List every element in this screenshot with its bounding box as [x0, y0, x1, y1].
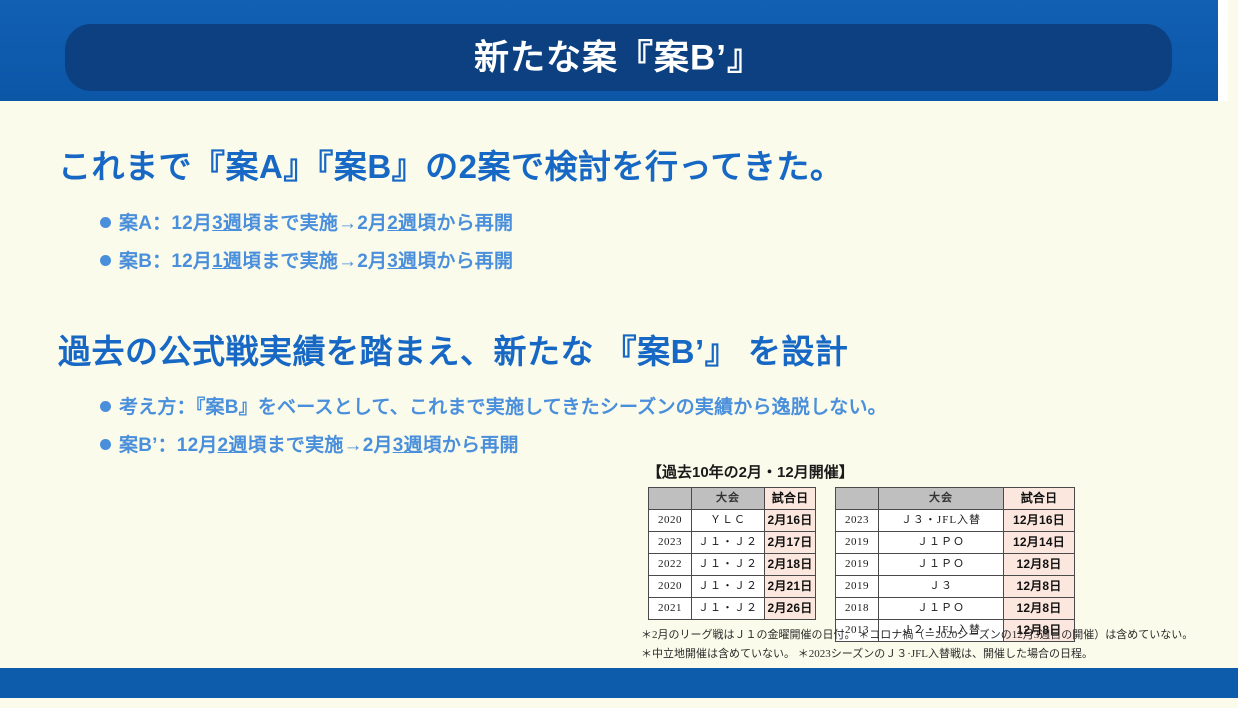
header-banner: 新たな案『案B’』 [0, 0, 1228, 101]
bullet-text-underline-1: 3週 [212, 213, 242, 234]
bullet-text-underline-2: 3週 [387, 251, 417, 272]
cell-year: 2018 [836, 598, 879, 620]
bullet-text-underline-2: 2週 [387, 213, 417, 234]
header-date: 試合日 [1004, 488, 1075, 510]
cell-date: 12月16日 [1004, 510, 1075, 532]
bullet-text-underline-2: 3週 [393, 435, 423, 456]
bullet-dot-icon [100, 439, 111, 450]
cell-date: 2月16日 [765, 510, 816, 532]
bullet-text-pre: 案B’：12月 [119, 435, 218, 456]
bullet-text-pre: 案B：12月 [119, 251, 212, 272]
cell-date: 12月8日 [1004, 598, 1075, 620]
bullet-dot-icon [100, 255, 111, 266]
bullet-text-mid: 頃まで実施→2月 [242, 213, 387, 234]
cell-competition: Ｊ１・Ｊ２ [692, 598, 765, 620]
bullet-plan-b-prime: 案B’：12月2週頃まで実施→2月3週頃から再開 [100, 430, 519, 457]
header-competition: 大会 [879, 488, 1004, 510]
cell-competition: Ｊ１・Ｊ２ [692, 532, 765, 554]
cell-date: 12月8日 [1004, 554, 1075, 576]
bullet-text-underline-1: 1週 [212, 251, 242, 272]
table-row: 2022Ｊ１・Ｊ２2月18日 [649, 554, 816, 576]
cell-year: 2019 [836, 554, 879, 576]
cell-date: 2月18日 [765, 554, 816, 576]
bullet-text-mid: 頃まで実施→2月 [248, 435, 393, 456]
table-header-row: 大会 試合日 [836, 488, 1075, 510]
table-row: 2023Ｊ１・Ｊ２2月17日 [649, 532, 816, 554]
table-row: 2020Ｊ１・Ｊ２2月21日 [649, 576, 816, 598]
table-row: 2019Ｊ１ＰＯ12月14日 [836, 532, 1075, 554]
header-year [836, 488, 879, 510]
cell-year: 2019 [836, 576, 879, 598]
header-year [649, 488, 692, 510]
section-heading-2: 過去の公式戦実績を踏まえ、新たな 『案B’』 を設計 [58, 325, 848, 373]
bullet-text-post: 頃から再開 [423, 435, 519, 456]
bullet-concept: 考え方：『案B』をベースとして、これまで実施してきたシーズンの実績から逸脱しない… [100, 392, 887, 419]
cell-date: 2月21日 [765, 576, 816, 598]
cell-competition: Ｊ１ＰＯ [879, 554, 1004, 576]
bullet-dot-icon [100, 401, 111, 412]
bullet-text-underline-1: 2週 [218, 435, 248, 456]
bullet-text-pre: 考え方：『案B』をベースとして、これまで実施してきたシーズンの実績から逸脱しない… [119, 397, 887, 418]
header-date: 試合日 [765, 488, 816, 510]
header-competition: 大会 [692, 488, 765, 510]
table-row: 2023Ｊ３・JFL入替12月16日 [836, 510, 1075, 532]
tables-caption: 【過去10年の2月・12月開催】 [647, 461, 854, 482]
table-row: 2019Ｊ３12月8日 [836, 576, 1075, 598]
cell-date: 2月26日 [765, 598, 816, 620]
cell-competition: Ｊ１・Ｊ２ [692, 576, 765, 598]
table-row: 2019Ｊ１ＰＯ12月8日 [836, 554, 1075, 576]
footer-bar [0, 668, 1238, 698]
cell-competition: Ｊ１ＰＯ [879, 532, 1004, 554]
header-title-panel: 新たな案『案B’』 [65, 24, 1172, 91]
page-title: 新たな案『案B’』 [65, 40, 1172, 75]
bullet-plan-a: 案A：12月3週頃まで実施→2月2週頃から再開 [100, 208, 513, 235]
bullet-dot-icon [100, 217, 111, 228]
cell-competition: ＹＬＣ [692, 510, 765, 532]
footnote-line-2: ＊中立地開催は含めていない。 ＊2023シーズンのＪ３·JFL入替戦は、開催した… [641, 645, 1093, 661]
bullet-text-post: 頃から再開 [417, 251, 513, 272]
cell-date: 12月14日 [1004, 532, 1075, 554]
cell-competition: Ｊ１ＰＯ [879, 598, 1004, 620]
cell-year: 2023 [649, 532, 692, 554]
cell-year: 2020 [649, 576, 692, 598]
cell-year: 2022 [649, 554, 692, 576]
table-row: 2018Ｊ１ＰＯ12月8日 [836, 598, 1075, 620]
table-row: 2021Ｊ１・Ｊ２2月26日 [649, 598, 816, 620]
bullet-plan-b: 案B：12月1週頃まで実施→2月3週頃から再開 [100, 246, 513, 273]
table-header-row: 大会 試合日 [649, 488, 816, 510]
table-row: 2020ＹＬＣ2月16日 [649, 510, 816, 532]
cell-year: 2020 [649, 510, 692, 532]
december-records-table: 大会 試合日 2023Ｊ３・JFL入替12月16日2019Ｊ１ＰＯ12月14日2… [835, 487, 1075, 642]
cell-year: 2019 [836, 532, 879, 554]
slide-canvas: 新たな案『案B’』 これまで『案A』『案B』の2案で検討を行ってきた。 案A：1… [0, 0, 1238, 708]
bullet-text-mid: 頃まで実施→2月 [242, 251, 387, 272]
bullet-text-pre: 案A：12月 [119, 213, 212, 234]
bullet-text-post: 頃から再開 [417, 213, 513, 234]
cell-date: 12月8日 [1004, 576, 1075, 598]
cell-year: 2021 [649, 598, 692, 620]
section-heading-1: これまで『案A』『案B』の2案で検討を行ってきた。 [58, 140, 843, 188]
cell-date: 2月17日 [765, 532, 816, 554]
cell-competition: Ｊ３ [879, 576, 1004, 598]
footnote-line-1: ＊2月のリーグ戦はＪ１の金曜開催の日付。 ＊コロナ禍（＝2020シーズンの12月… [641, 626, 1193, 642]
cell-competition: Ｊ１・Ｊ２ [692, 554, 765, 576]
cell-year: 2023 [836, 510, 879, 532]
february-records-table: 大会 試合日 2020ＹＬＣ2月16日2023Ｊ１・Ｊ２2月17日2022Ｊ１・… [648, 487, 816, 620]
cell-competition: Ｊ３・JFL入替 [879, 510, 1004, 532]
